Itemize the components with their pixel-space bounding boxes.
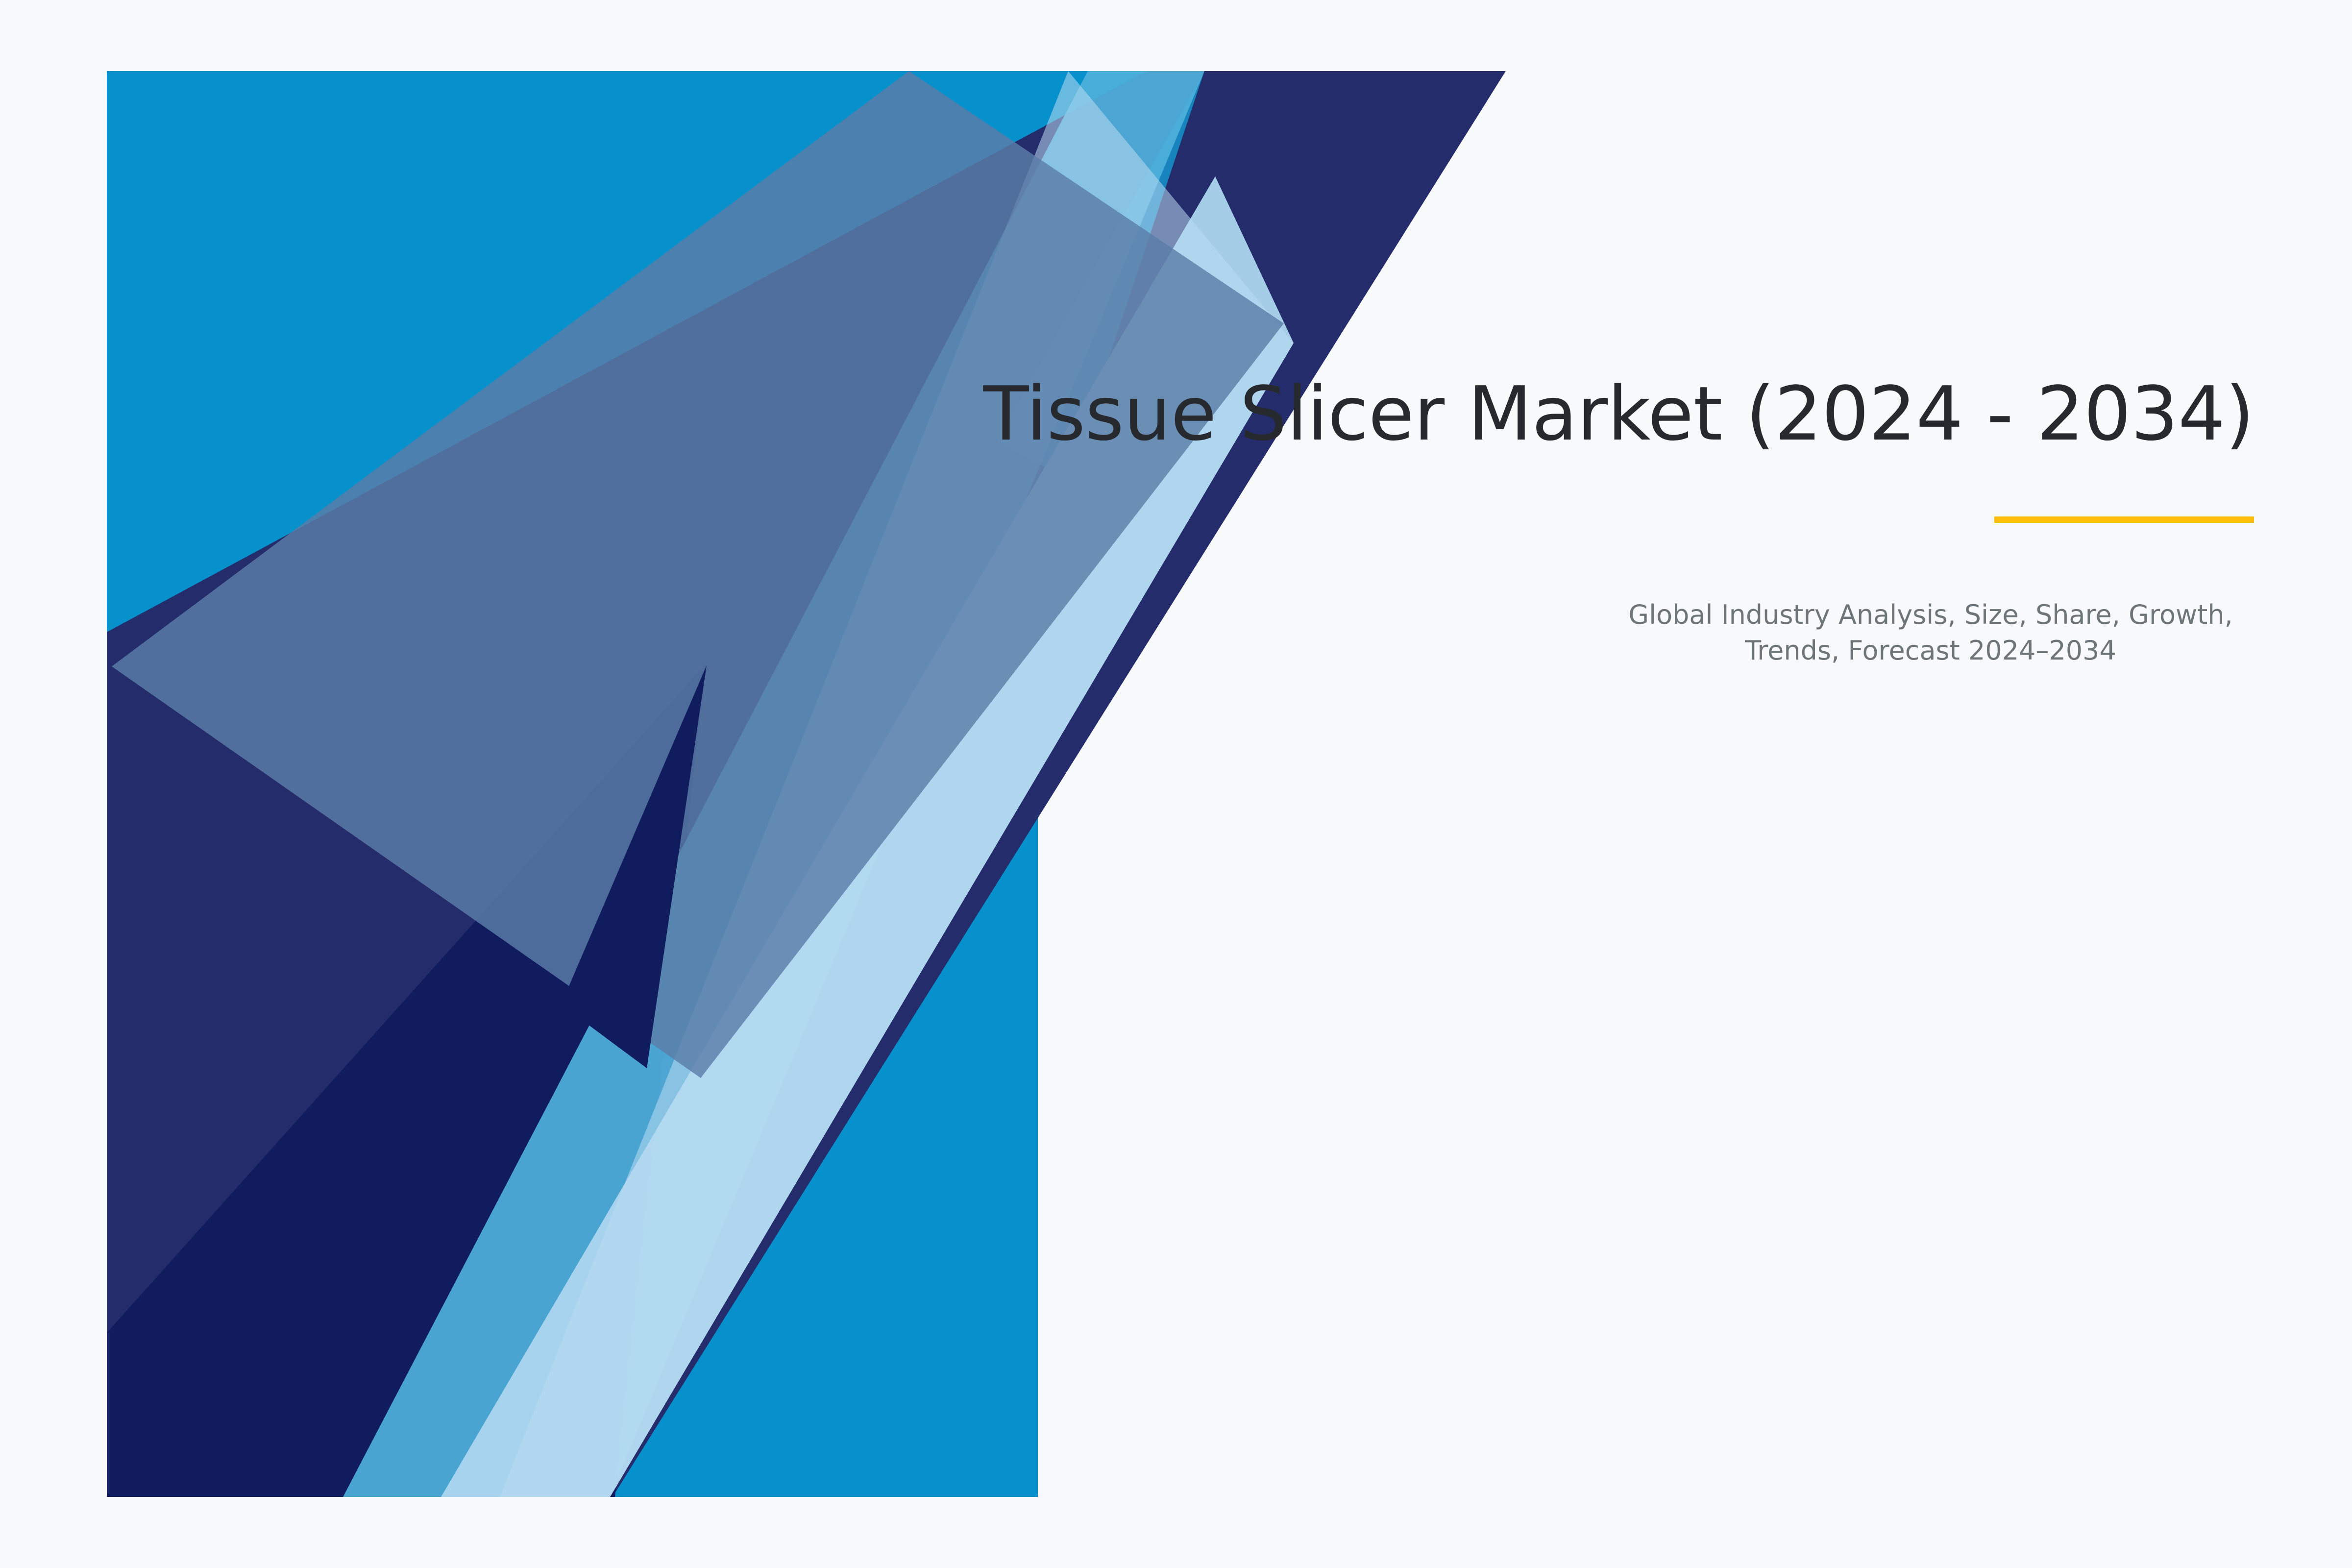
report-cover-slide: Tissue Slicer Market (2024 - 2034) Globa…: [0, 0, 2352, 1568]
deep-navy-lower-shape: [107, 664, 706, 1497]
cyan-backdrop-shape: [107, 71, 1038, 1497]
pale-blue-band-shape: [500, 71, 1294, 1497]
sky-blue-band-shape: [343, 71, 1204, 1497]
navy-inner-spike-shape: [561, 665, 707, 1068]
title-rule-container: [931, 516, 2254, 523]
navy-diagonal-shape: [107, 71, 1506, 1497]
page-title: Tissue Slicer Market (2024 - 2034): [931, 372, 2254, 456]
navy-field-shape: [107, 71, 1506, 1497]
artwork-frame: [107, 71, 1506, 1497]
abstract-geometric-artwork: [0, 0, 2352, 1568]
cover-text-block: Tissue Slicer Market (2024 - 2034) Globa…: [931, 372, 2254, 669]
title-accent-rule: [1994, 516, 2254, 523]
deep-navy-spike-shape: [343, 664, 706, 1497]
page-subtitle: Global Industry Analysis, Size, Share, G…: [1607, 597, 2254, 669]
